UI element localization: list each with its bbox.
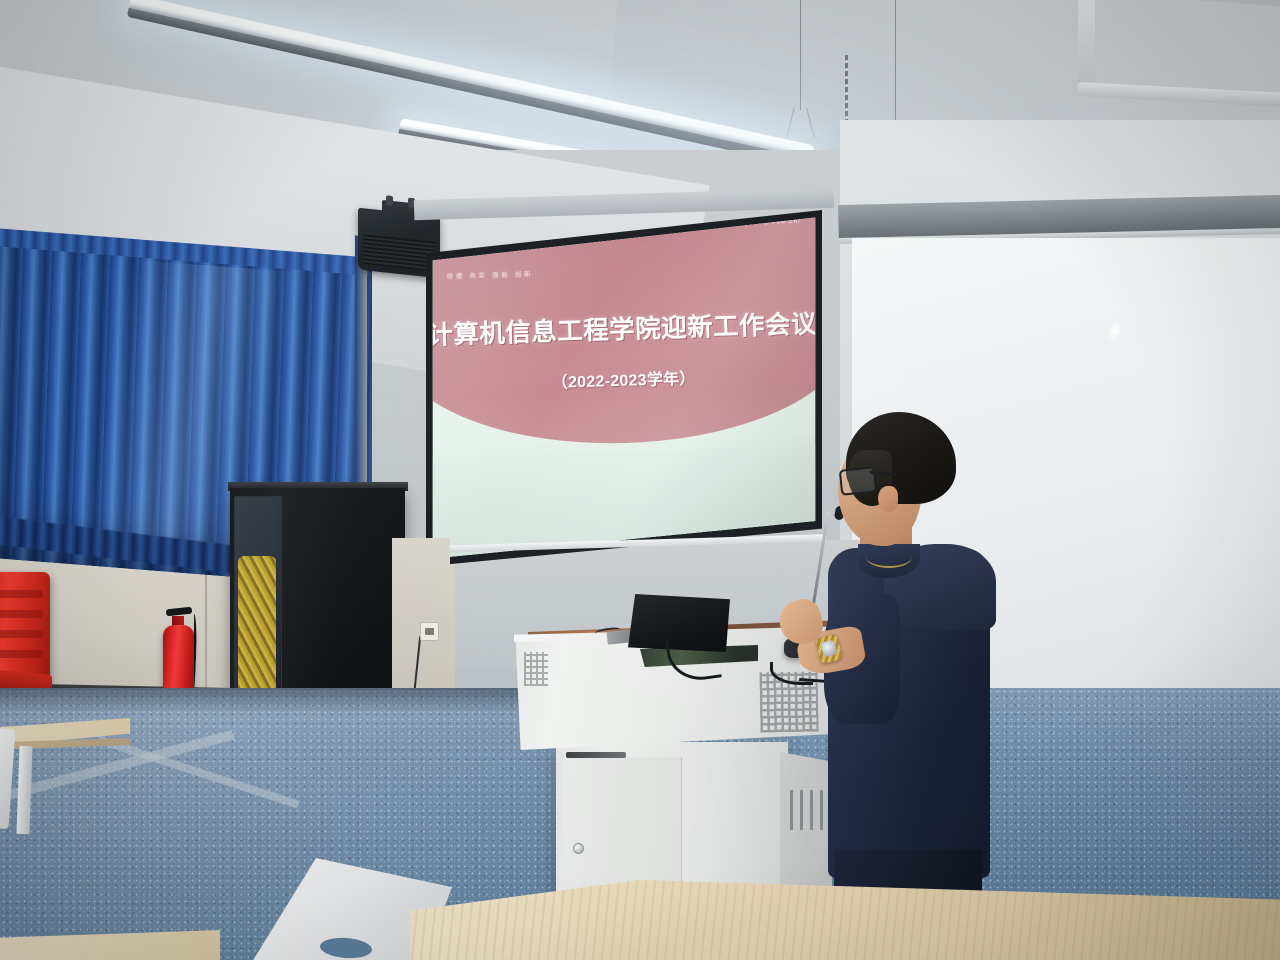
ceiling-pipe-vertical (1078, 0, 1095, 90)
presenter (824, 398, 1040, 960)
floor-wall-shadow (0, 688, 560, 714)
chair-slat (0, 590, 43, 598)
chair-slat (0, 650, 43, 658)
power-outlet[interactable] (420, 622, 439, 641)
presenter-necklace (866, 546, 912, 568)
presenter-ear (878, 486, 898, 512)
network-cables (238, 556, 276, 696)
podium-door-slot (566, 752, 626, 758)
chair-slat (0, 630, 43, 638)
podium-lock[interactable] (573, 843, 584, 854)
podium-left-vents (524, 652, 548, 686)
screen-surface: http://www.gzhlxy.edu.cn/ 修德 务实 强能 创新 计算… (424, 210, 824, 570)
projection-screen: http://www.gzhlxy.edu.cn/ 修德 务实 强能 创新 计算… (424, 210, 824, 580)
classroom-photo-scene: http://www.gzhlxy.edu.cn/ 修德 务实 强能 创新 计算… (0, 0, 1280, 960)
podium-side-vents (790, 790, 828, 830)
presentation-slide: http://www.gzhlxy.edu.cn/ 修德 务实 强能 创新 计算… (424, 210, 824, 570)
light-hanger-wire (800, 0, 801, 110)
chair-slat (0, 610, 43, 618)
